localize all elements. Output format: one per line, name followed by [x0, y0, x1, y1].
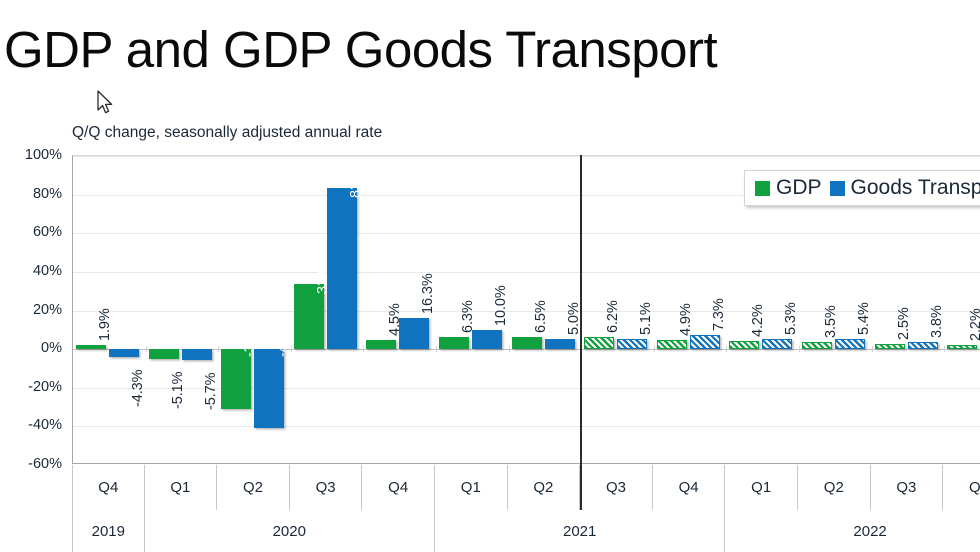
gridline — [73, 156, 980, 157]
y-axis-tick-label: -20% — [0, 379, 62, 395]
bar-gdp[interactable] — [729, 341, 759, 349]
bar-gdp[interactable] — [76, 345, 106, 349]
bar-gdp[interactable] — [947, 345, 977, 349]
legend-label-gdp: GDP — [776, 176, 822, 200]
bar-data-label: 6.2% — [605, 300, 621, 333]
bar-gdp[interactable] — [439, 337, 469, 349]
category-tick — [218, 346, 219, 352]
bar-data-label: -41.0% — [275, 312, 291, 357]
forecast-divider-line — [580, 155, 582, 510]
bar-goods-transport[interactable] — [472, 330, 502, 349]
bar-data-label: 2.2% — [968, 308, 980, 341]
bar-data-label: 3.8% — [929, 305, 945, 338]
bar-goods-transport[interactable] — [109, 349, 139, 357]
x-axis-quarter-label: Q4 — [943, 465, 980, 510]
category-tick — [944, 346, 945, 352]
bar-data-label: 6.5% — [533, 300, 549, 333]
x-axis-quarter-label: Q1 — [145, 465, 218, 510]
x-axis-year-label: 2019 — [72, 510, 145, 552]
x-axis-quarter-label: Q2 — [217, 465, 290, 510]
bar-goods-transport[interactable] — [545, 339, 575, 349]
bar-data-label: -5.7% — [203, 373, 219, 410]
legend-swatch-goods-transport-icon — [830, 181, 845, 196]
category-tick — [726, 346, 727, 352]
bar-goods-transport[interactable] — [327, 188, 357, 349]
category-tick — [872, 346, 873, 352]
x-axis-quarter-label: Q4 — [72, 465, 145, 510]
bar-data-label: 10.0% — [493, 285, 509, 326]
x-axis-quarter-label: Q1 — [725, 465, 798, 510]
x-axis-year-label: 2021 — [435, 510, 725, 552]
x-axis-quarter-label: Q1 — [435, 465, 508, 510]
bar-goods-transport[interactable] — [254, 349, 284, 428]
chart-container: Q/Q change, seasonally adjusted annual r… — [0, 110, 980, 552]
bar-goods-transport[interactable] — [690, 335, 720, 349]
y-axis-tick-label: 20% — [0, 302, 62, 318]
bar-data-label: 1.9% — [97, 309, 113, 342]
y-axis-tick-label: 80% — [0, 186, 62, 202]
bar-gdp[interactable] — [221, 349, 251, 409]
category-tick — [146, 346, 147, 352]
legend-item-goods-transport[interactable]: Goods Transpo — [830, 176, 980, 200]
bar-gdp[interactable] — [584, 337, 614, 349]
bar-gdp[interactable] — [802, 342, 832, 349]
chart-legend[interactable]: GDP Goods Transpo — [744, 170, 980, 206]
category-tick — [363, 346, 364, 352]
y-axis-tick-label: -60% — [0, 456, 62, 472]
legend-item-gdp[interactable]: GDP — [755, 176, 822, 200]
bar-data-label: 7.3% — [711, 298, 727, 331]
category-tick — [509, 346, 510, 352]
legend-swatch-gdp-icon — [755, 181, 770, 196]
bar-goods-transport[interactable] — [835, 339, 865, 349]
y-axis-tick-label: 100% — [0, 147, 62, 163]
category-tick — [436, 346, 437, 352]
category-tick — [799, 346, 800, 352]
bar-goods-transport[interactable] — [908, 342, 938, 349]
gridline — [73, 426, 980, 427]
x-axis-quarter-label: Q4 — [362, 465, 435, 510]
x-axis-quarter-label: Q2 — [798, 465, 871, 510]
bar-gdp[interactable] — [657, 340, 687, 349]
bar-data-label: -4.3% — [130, 370, 146, 407]
page-title: GDP and GDP Goods Transport — [4, 22, 717, 77]
y-axis-tick-label: -40% — [0, 417, 62, 433]
bar-gdp[interactable] — [366, 340, 396, 349]
bar-goods-transport[interactable] — [399, 318, 429, 349]
bar-gdp[interactable] — [512, 337, 542, 350]
bar-data-label: -5.1% — [170, 372, 186, 409]
legend-label-goods-transport: Goods Transpo — [851, 176, 980, 200]
x-axis-quarter-label: Q4 — [653, 465, 726, 510]
x-axis-quarter-label: Q3 — [871, 465, 944, 510]
x-axis-quarter-label: Q3 — [580, 465, 653, 510]
bar-gdp[interactable] — [875, 344, 905, 349]
x-axis: Q4Q1Q2Q3Q4Q1Q2Q3Q4Q1Q2Q3Q4 2019202020212… — [72, 465, 980, 552]
bar-data-label: 3.5% — [823, 306, 839, 339]
x-axis-quarter-label: Q2 — [508, 465, 581, 510]
y-axis-tick-label: 40% — [0, 263, 62, 279]
bar-data-label: 4.9% — [678, 303, 694, 336]
gridline — [73, 311, 980, 312]
category-tick — [654, 346, 655, 352]
bar-data-label: 83.3% — [348, 158, 364, 199]
y-axis-tick-label: 60% — [0, 224, 62, 240]
gridline — [73, 272, 980, 273]
bar-goods-transport[interactable] — [617, 339, 647, 349]
bar-data-label: 5.3% — [783, 302, 799, 335]
bar-data-label: 16.3% — [420, 273, 436, 314]
bar-gdp[interactable] — [149, 349, 179, 359]
bar-data-label: 5.4% — [856, 302, 872, 335]
gridline — [73, 233, 980, 234]
x-axis-year-label: 2022 — [725, 510, 980, 552]
bar-data-label: 5.1% — [638, 303, 654, 336]
bar-data-label: 6.3% — [460, 300, 476, 333]
bar-goods-transport[interactable] — [182, 349, 212, 360]
bar-data-label: 5.0% — [566, 303, 582, 336]
x-axis-year-label: 2020 — [145, 510, 435, 552]
y-axis-tick-label: 0% — [0, 340, 62, 356]
bar-data-label: 2.5% — [896, 308, 912, 341]
bar-data-label: 4.2% — [750, 304, 766, 337]
chart-subtitle: Q/Q change, seasonally adjusted annual r… — [72, 124, 382, 142]
bar-goods-transport[interactable] — [762, 339, 792, 349]
x-axis-quarter-label: Q3 — [290, 465, 363, 510]
